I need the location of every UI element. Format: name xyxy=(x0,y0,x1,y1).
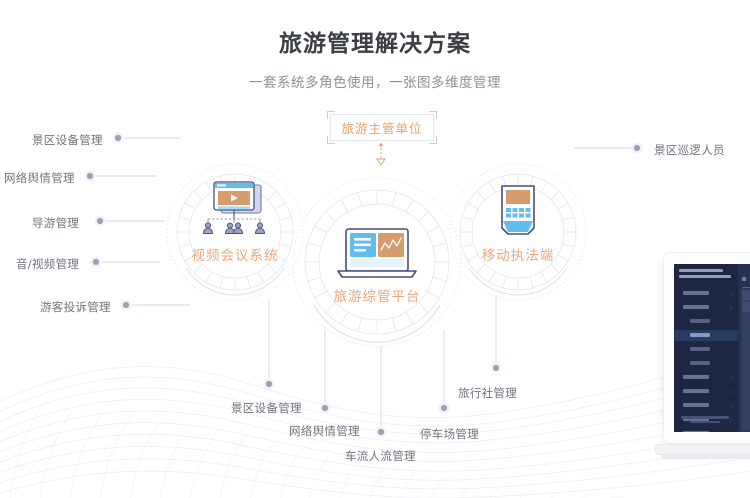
badge-corner-top-right-icon xyxy=(429,111,437,119)
bottom-spoke-connectors xyxy=(269,296,496,426)
dashboard-menu-item[interactable] xyxy=(674,316,738,327)
page-title: 旅游管理解决方案 xyxy=(0,0,750,58)
dashboard-menu-item[interactable] xyxy=(674,428,738,432)
badge-corner-bottom-left-icon xyxy=(327,136,335,144)
dashboard-menu[interactable] xyxy=(674,288,738,432)
node-ring-mobile-enforcement xyxy=(450,164,586,300)
left-spoke-dots xyxy=(84,132,131,310)
node-ring-tourism-platform xyxy=(293,178,461,346)
solution-diagram-page: 旅游管理解决方案 一套系统多角色使用，一张图多维度管理 旅游主管单位 xyxy=(0,0,750,498)
dashboard-menu-item[interactable] xyxy=(674,344,738,355)
laptop-base-edge xyxy=(661,455,750,459)
node-ring-video-conference xyxy=(167,164,303,300)
tree-node[interactable] xyxy=(742,326,750,336)
node-label-mobile-enforcement[interactable]: 移动执法端 xyxy=(438,244,598,264)
dashboard-topbar[interactable] xyxy=(738,264,750,286)
page-header: 旅游管理解决方案 一套系统多角色使用，一张图多维度管理 xyxy=(0,0,750,91)
spoke-label-left-1[interactable]: 网络舆情管理 xyxy=(4,170,75,186)
page-subtitle: 一套系统多角色使用，一张图多维度管理 xyxy=(0,58,750,91)
tree-node[interactable] xyxy=(742,338,750,348)
tree-node[interactable] xyxy=(742,374,750,384)
dashboard-menu-item[interactable] xyxy=(674,386,738,397)
dashboard-tree-panel[interactable] xyxy=(742,290,750,430)
tree-node[interactable] xyxy=(742,290,750,300)
dashboard-menu-item[interactable] xyxy=(674,302,738,313)
authority-badge-label: 旅游主管单位 xyxy=(341,118,422,137)
node-label-video-conference[interactable]: 视频会议系统 xyxy=(155,244,315,264)
dashboard-menu-item[interactable] xyxy=(674,288,738,299)
authority-badge-box: 旅游主管单位 xyxy=(330,114,434,141)
authority-badge[interactable]: 旅游主管单位 xyxy=(330,114,434,141)
tree-node[interactable] xyxy=(742,350,750,360)
spoke-label-right-0[interactable]: 景区巡逻人员 xyxy=(654,142,725,158)
badge-connector xyxy=(377,143,385,165)
dashboard-sidebar[interactable] xyxy=(674,264,738,432)
left-spoke-connectors xyxy=(96,138,190,305)
spoke-label-left-3[interactable]: 音/视频管理 xyxy=(16,256,79,272)
laptop-mockup xyxy=(655,252,750,484)
dashboard-menu-item[interactable] xyxy=(674,372,738,383)
tree-node[interactable] xyxy=(742,362,750,372)
laptop-bezel xyxy=(663,252,750,444)
spoke-label-bottom-3[interactable]: 停车场管理 xyxy=(420,426,479,442)
badge-corner-top-left-icon xyxy=(327,111,335,119)
spoke-label-left-4[interactable]: 游客投诉管理 xyxy=(40,299,111,315)
tourism-dashboard-screenshot[interactable] xyxy=(674,264,750,432)
video-window-icon xyxy=(204,182,265,234)
spoke-label-left-2[interactable]: 导游管理 xyxy=(32,215,79,231)
spoke-label-bottom-0[interactable]: 景区设备管理 xyxy=(231,400,302,416)
laptop-base xyxy=(655,444,750,455)
tree-node[interactable] xyxy=(742,314,750,324)
spoke-label-bottom-1[interactable]: 网络舆情管理 xyxy=(289,423,360,439)
tree-node[interactable] xyxy=(742,386,750,396)
handheld-terminal-icon xyxy=(502,186,534,234)
spoke-label-bottom-2[interactable]: 车流人流管理 xyxy=(345,448,416,464)
dashboard-content[interactable] xyxy=(740,288,750,432)
dashboard-sidebar-footer xyxy=(681,416,729,425)
dashboard-menu-item[interactable] xyxy=(674,400,738,411)
background-mesh-decoration xyxy=(0,308,750,498)
spoke-label-left-0[interactable]: 景区设备管理 xyxy=(32,132,103,148)
badge-corner-bottom-right-icon xyxy=(429,136,437,144)
spoke-label-bottom-4[interactable]: 旅行社管理 xyxy=(458,385,517,401)
dashboard-menu-item-active[interactable] xyxy=(674,330,738,341)
laptop-dashboard-icon xyxy=(338,229,416,277)
node-label-tourism-platform[interactable]: 旅游综管平台 xyxy=(297,285,457,305)
dashboard-menu-item[interactable] xyxy=(674,358,738,369)
right-spoke-dots xyxy=(631,142,642,153)
dashboard-logo xyxy=(679,269,733,282)
tree-node-selected[interactable] xyxy=(742,302,750,312)
